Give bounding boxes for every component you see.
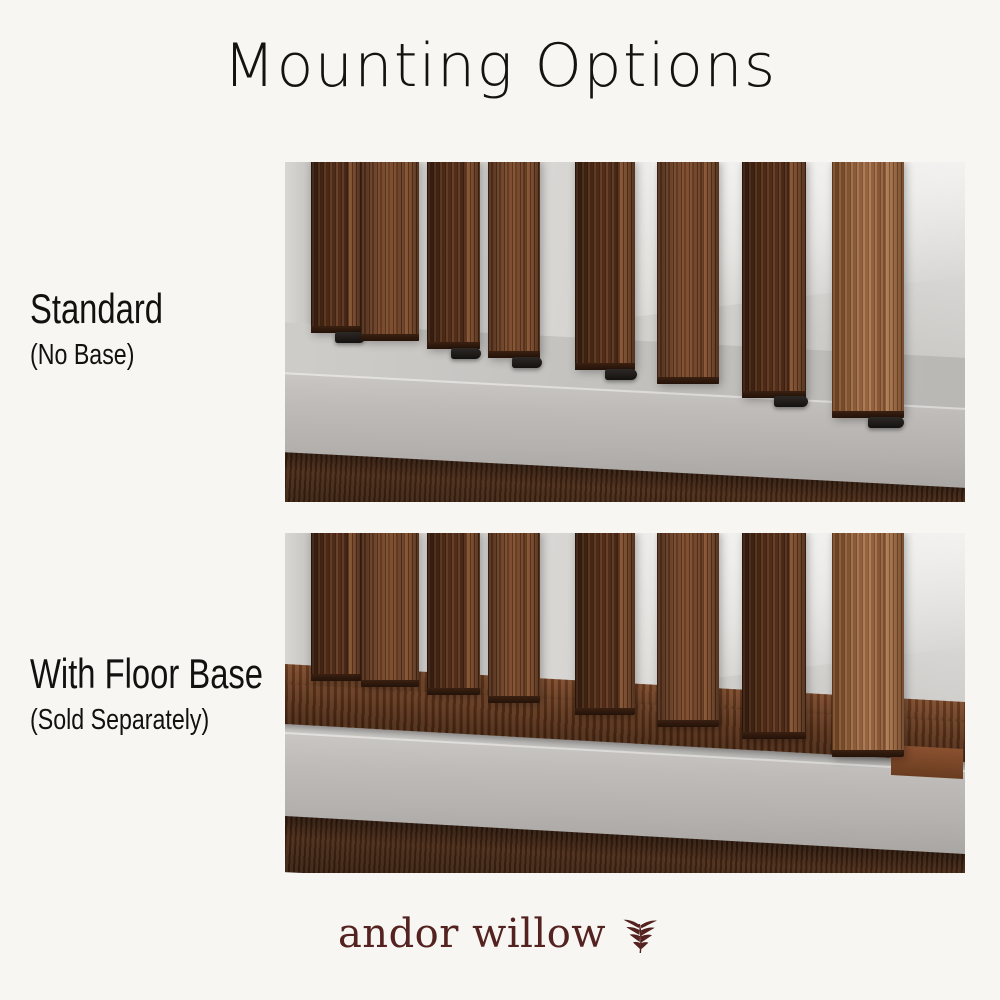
page-title: Mounting Options [0, 36, 1000, 96]
slat-bottom-cap [657, 377, 719, 384]
slat-bottom-cap [361, 680, 419, 687]
slat-side [404, 162, 419, 341]
slat [657, 162, 719, 384]
slat [311, 533, 361, 681]
photo-floor-base-mounting [285, 533, 965, 873]
slat-bottom-cap [657, 720, 719, 727]
slat-bottom-cap [427, 688, 480, 695]
scene-standard [285, 162, 965, 502]
slat-bottom-cap [742, 732, 806, 739]
slat [657, 533, 719, 727]
poster-canvas: Mounting Options Standard (No Base) [0, 0, 1000, 1000]
slat [427, 533, 480, 695]
slat-bottom-cap [575, 708, 635, 715]
option-label-standard: Standard (No Base) [30, 288, 200, 370]
slat-side [404, 533, 419, 687]
slat [361, 533, 419, 687]
rubber-foot [774, 396, 808, 407]
slat-side [348, 533, 361, 681]
slat-side [703, 162, 719, 384]
photo-standard-mounting [285, 162, 965, 502]
slat-bottom-cap [361, 334, 419, 341]
slat [311, 162, 361, 333]
scene-floor-base [285, 533, 965, 873]
slat-side [619, 533, 635, 715]
rubber-foot [512, 357, 542, 368]
option-title-floor-base: With Floor Base [30, 653, 263, 695]
slat [488, 162, 540, 358]
slat-side [885, 533, 904, 757]
willow-frond-icon [620, 912, 662, 956]
slat [742, 162, 806, 398]
slat-side [526, 162, 540, 358]
slat-side [348, 162, 361, 333]
slat-side [789, 533, 806, 739]
slat [832, 533, 904, 757]
option-title-standard: Standard [30, 288, 163, 330]
rubber-foot [605, 369, 637, 380]
slat-bottom-cap [832, 750, 904, 757]
rubber-foot [868, 417, 904, 428]
slat [427, 162, 480, 349]
slat-side [466, 162, 480, 349]
slat-side [619, 162, 635, 370]
slat [488, 533, 540, 703]
slat-side [703, 533, 719, 727]
slat-side [526, 533, 540, 703]
option-subtitle-standard: (No Base) [30, 341, 166, 370]
option-label-floor-base: With Floor Base (Sold Separately) [30, 653, 329, 735]
brand-lockup: andor willow [0, 912, 1000, 956]
slat-side [789, 162, 806, 398]
slat [361, 162, 419, 341]
slat [575, 162, 635, 370]
slat-bottom-cap [488, 696, 540, 703]
rubber-foot [451, 348, 481, 359]
slat [742, 533, 806, 739]
slat-side [466, 533, 480, 695]
slat [575, 533, 635, 715]
option-subtitle-floor-base: (Sold Separately) [30, 706, 269, 735]
slat-side [885, 162, 904, 418]
slat-bottom-cap [311, 674, 361, 681]
brand-name: andor willow [338, 914, 606, 954]
slat [832, 162, 904, 418]
